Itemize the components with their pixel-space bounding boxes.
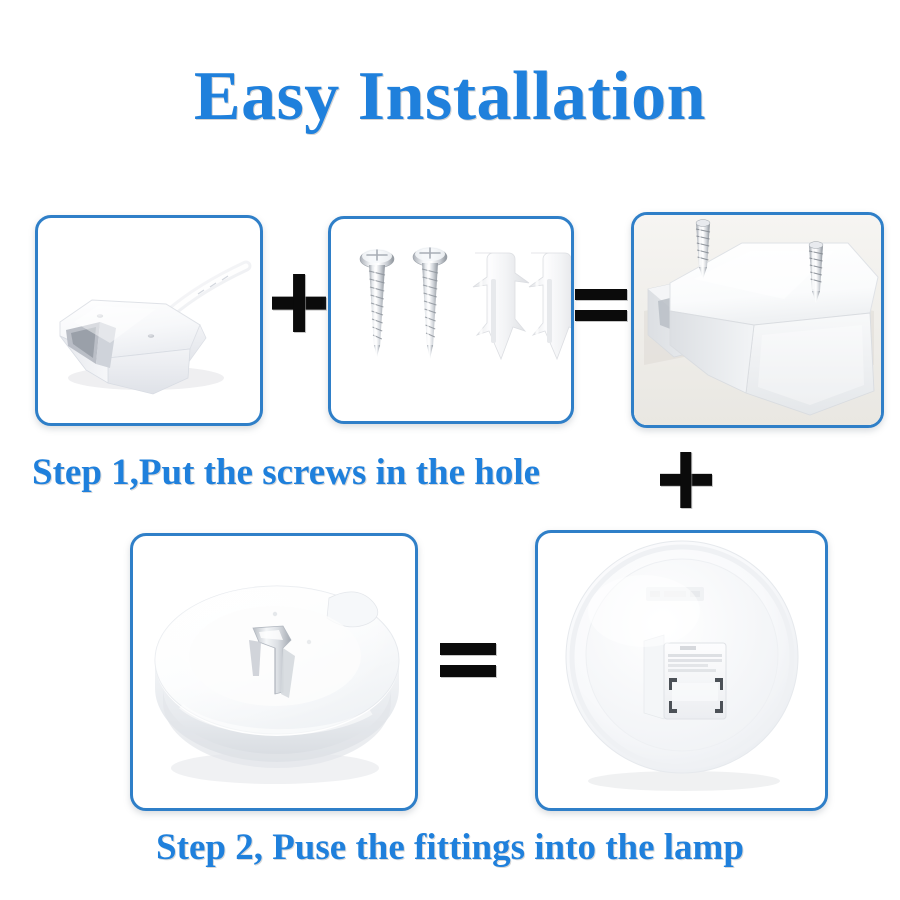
screw-1 bbox=[360, 249, 394, 357]
panel-lamp-angled bbox=[130, 533, 418, 811]
plus-operator-1 bbox=[272, 274, 326, 332]
page-title: Easy Installation bbox=[0, 58, 900, 136]
step-1-caption: Step 1,Put the screws in the hole bbox=[32, 452, 540, 494]
plus-bar-vertical bbox=[293, 274, 305, 332]
screw-2 bbox=[413, 247, 447, 359]
equals-bar-bottom bbox=[440, 665, 496, 677]
lamp-back-illustration bbox=[538, 533, 825, 808]
lamp-angled-illustration bbox=[133, 536, 415, 808]
wall-anchor-2 bbox=[529, 253, 571, 359]
equals-operator-2 bbox=[440, 640, 496, 684]
equals-operator-1 bbox=[575, 286, 627, 328]
panel-bracket-mounted bbox=[631, 212, 884, 428]
equals-bar-top bbox=[575, 289, 627, 301]
plus-bar-vertical bbox=[680, 452, 691, 508]
panel-wall-bracket bbox=[35, 215, 263, 426]
panel-lamp-back bbox=[535, 530, 828, 811]
installation-poster: Easy Installation bbox=[0, 0, 900, 900]
bracket-mounted-illustration bbox=[634, 215, 881, 425]
wall-bracket-illustration bbox=[38, 218, 260, 423]
wall-anchor-1 bbox=[473, 253, 529, 359]
mounting-plate bbox=[644, 635, 726, 719]
step-2-caption: Step 2, Puse the fittings into the lamp bbox=[0, 827, 900, 869]
panel-screws-and-anchors bbox=[328, 216, 574, 424]
equals-bar-top bbox=[440, 643, 496, 655]
equals-bar-bottom bbox=[575, 310, 627, 322]
screws-and-anchors-illustration bbox=[331, 219, 571, 421]
plus-operator-2 bbox=[660, 452, 712, 508]
